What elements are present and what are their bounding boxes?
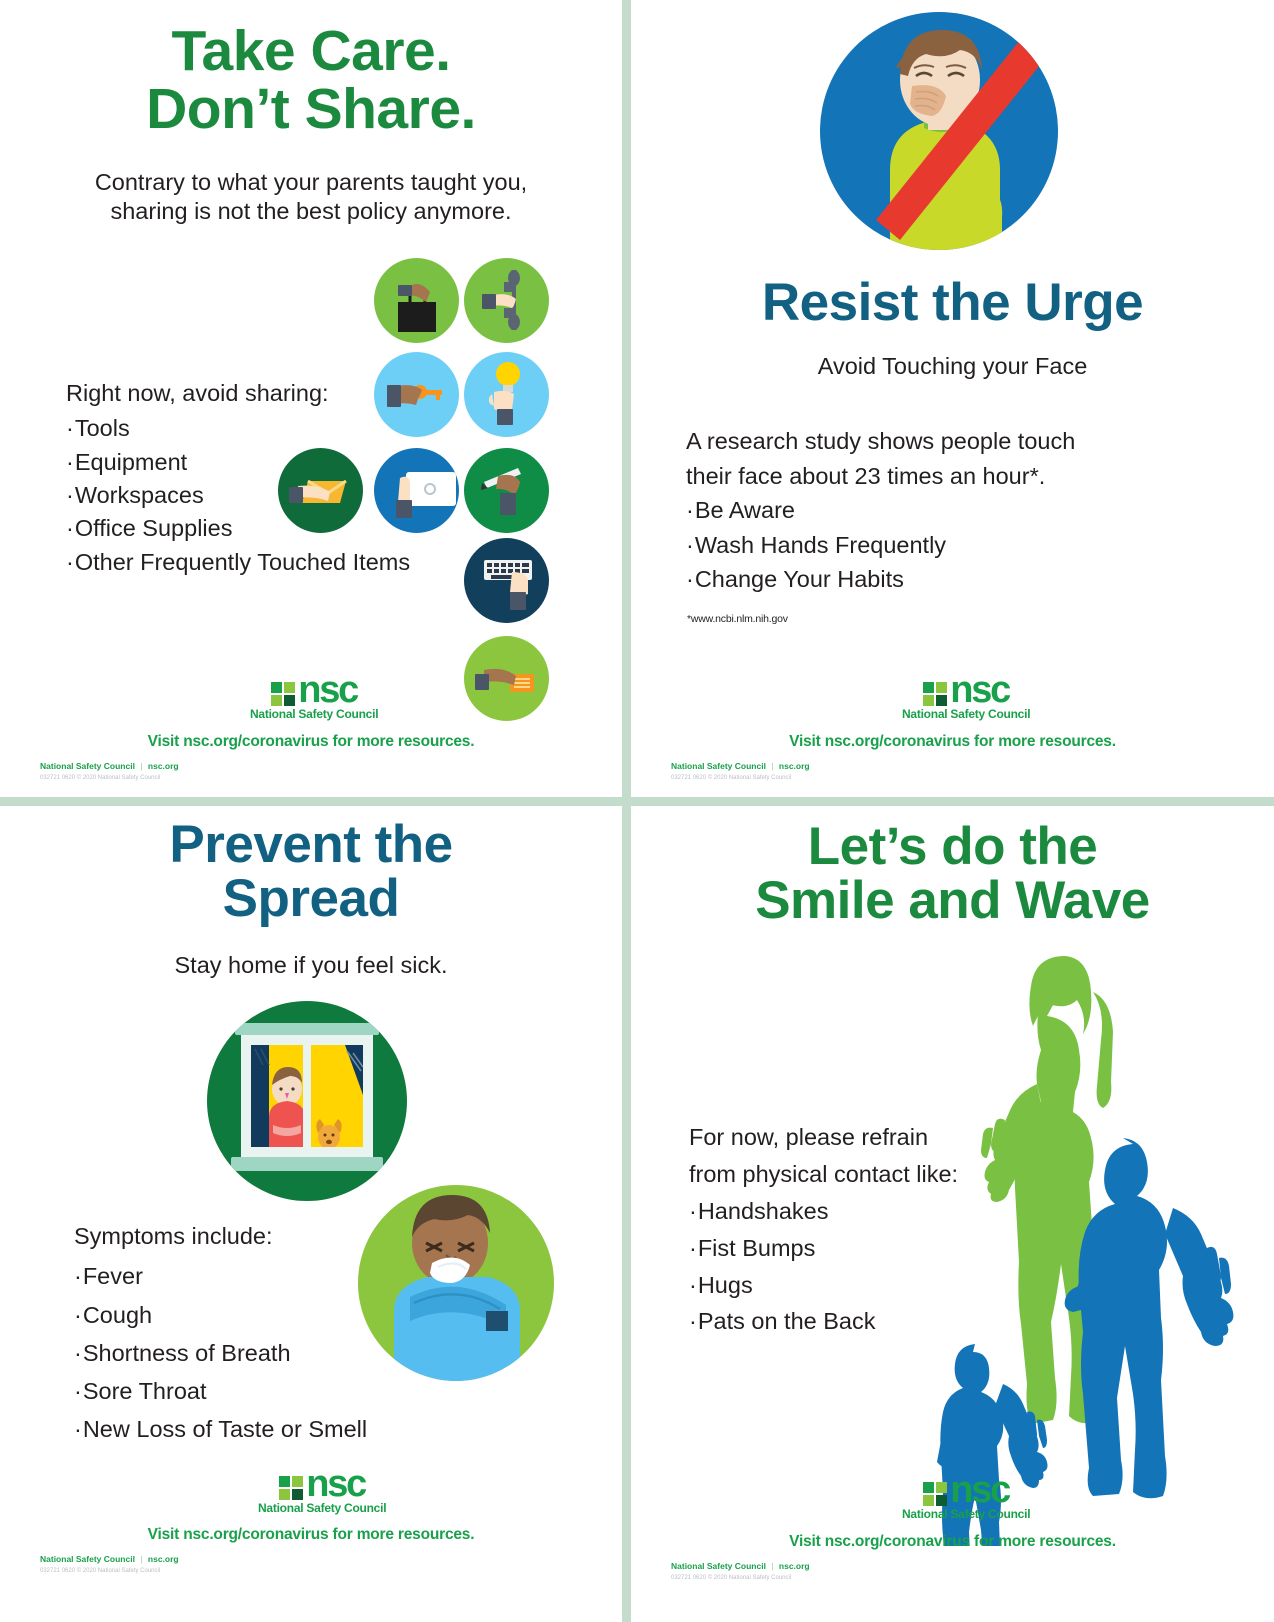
panel-subtitle: Avoid Touching your Face [631,352,1274,381]
panel-body: Right now, avoid sharing: Tools Equipmen… [66,377,410,579]
subtitle-line-1: Stay home if you feel sick. [0,951,622,980]
panel-resist-the-urge: Resist the Urge Avoid Touching your Face… [631,0,1274,797]
nsc-logo-lockup: nsc [271,676,357,706]
nsc-logo-subtitle: National Safety Council [902,1507,1030,1521]
nsc-mark-icon [279,1476,303,1500]
subtitle-line-1: Contrary to what your parents taught you… [26,168,596,197]
footer-site[interactable]: nsc.org [779,761,810,771]
panel-smile-and-wave: Let’s do the Smile and Wave [631,806,1274,1622]
stay-home-window-illustration [207,1001,407,1201]
footer-name: National Safety Council [671,1561,766,1571]
panel-subtitle: Stay home if you feel sick. [0,951,622,980]
nsc-logo: nsc National Safety Council [902,676,1030,721]
panel-body: A research study shows people touch thei… [686,424,1075,597]
bullet-list: Tools Equipment Workspaces Office Suppli… [66,412,410,579]
list-item: Hugs [689,1267,958,1304]
panel-prevent-the-spread: Prevent the Spread Stay home if you feel… [0,806,622,1622]
list-item: Fist Bumps [689,1230,958,1267]
nsc-logo: nsc National Safety Council [902,1476,1030,1521]
nsc-logo-subtitle: National Safety Council [250,707,378,721]
footer-brandbar: National Safety Council | nsc.org [40,761,179,771]
panel-title: Prevent the Spread [0,818,622,926]
list-item: Pats on the Back [689,1303,958,1340]
nsc-wordmark: nsc [950,676,1009,706]
body-lead-line-1: For now, please refrain [689,1119,958,1156]
title-line-1: Take Care. [0,22,622,80]
footer-brandbar: National Safety Council | nsc.org [671,1561,810,1571]
footer-brandbar: National Safety Council | nsc.org [671,761,810,771]
nsc-logo-subtitle: National Safety Council [258,1501,386,1515]
footer-separator: | [771,761,773,771]
body-lead-line-2: from physical contact like: [689,1156,958,1193]
panel-take-care-dont-share: Take Care. Don’t Share. Contrary to what… [0,0,622,797]
list-item: Be Aware [686,493,1075,528]
list-item: New Loss of Taste or Smell [74,1410,367,1448]
nsc-logo: nsc National Safety Council [258,1470,386,1515]
footer-brandbar: National Safety Council | nsc.org [40,1554,179,1564]
list-item: Tools [66,412,410,445]
visit-line[interactable]: Visit nsc.org/coronavirus for more resou… [0,733,622,751]
vertical-divider [622,0,631,1622]
nsc-wordmark: nsc [298,676,357,706]
symptoms-body: Symptoms include: Fever Cough Shortness … [74,1217,367,1449]
nsc-logo-subtitle: National Safety Council [902,707,1030,721]
panel-title: Let’s do the Smile and Wave [631,820,1274,928]
footer-site[interactable]: nsc.org [148,761,179,771]
title-line-2: Spread [0,872,622,926]
visit-line[interactable]: Visit nsc.org/coronavirus for more resou… [631,733,1274,751]
nsc-mark-icon [923,682,947,706]
title-line-1: Prevent the [0,818,622,872]
bullet-list: Be Aware Wash Hands Frequently Change Yo… [686,493,1075,597]
list-item: Fever [74,1257,367,1295]
list-item: Workspaces [66,479,410,512]
title-line-1: Resist the Urge [631,276,1274,330]
body-lead: Right now, avoid sharing: [66,377,410,410]
visit-line[interactable]: Visit nsc.org/coronavirus for more resou… [631,1533,1274,1551]
footer-name: National Safety Council [671,761,766,771]
nsc-logo: nsc National Safety Council [250,676,378,721]
panel-subtitle: Contrary to what your parents taught you… [26,168,596,225]
nsc-logo-lockup: nsc [923,676,1009,706]
cough-into-elbow-illustration [358,1185,554,1381]
panel-body: For now, please refrain from physical co… [689,1119,958,1340]
man-waving-silhouette [1065,1138,1234,1498]
badge-wrench-icon [464,258,549,343]
body-lead-line-2: their face about 23 times an hour*. [686,459,1075,494]
list-item: Equipment [66,446,410,479]
nsc-mark-icon [923,1482,947,1506]
list-item: Change Your Habits [686,562,1075,597]
nsc-logo-lockup: nsc [279,1470,365,1500]
badge-keyboard-icon [464,538,549,623]
badge-briefcase-icon [374,258,459,343]
waving-silhouettes-illustration [919,946,1239,1546]
list-item: Wash Hands Frequently [686,528,1075,563]
bullet-list: Fever Cough Shortness of Breath Sore Thr… [74,1257,367,1448]
nsc-mark-icon [271,682,295,706]
footer-site[interactable]: nsc.org [148,1554,179,1564]
horizontal-divider [0,797,1274,806]
badge-card-reader-icon [464,636,549,721]
badge-pen-icon [464,448,549,533]
list-item: Shortness of Breath [74,1334,367,1372]
footer-copyright: 032721 0620 © 2020 National Safety Counc… [40,775,160,781]
panel-title: Resist the Urge [631,276,1274,330]
list-item: Sore Throat [74,1372,367,1410]
footnote: *www.ncbi.nlm.nih.gov [687,613,788,625]
subtitle-line-1: Avoid Touching your Face [631,352,1274,381]
title-line-1: Let’s do the [631,820,1274,874]
bullet-list: Handshakes Fist Bumps Hugs Pats on the B… [689,1193,958,1341]
nsc-logo-lockup: nsc [923,1476,1009,1506]
list-item: Handshakes [689,1193,958,1230]
poster-set-sheet: Take Care. Don’t Share. Contrary to what… [0,0,1274,1622]
subtitle-line-2: sharing is not the best policy anymore. [26,197,596,226]
footer-name: National Safety Council [40,1554,135,1564]
footer-copyright: 032721 0620 © 2020 National Safety Counc… [40,1568,160,1574]
list-item: Other Frequently Touched Items [66,546,410,579]
badge-lightbulb-icon [464,352,549,437]
visit-line[interactable]: Visit nsc.org/coronavirus for more resou… [0,1526,622,1544]
body-lead-line-1: A research study shows people touch [686,424,1075,459]
panel-title: Take Care. Don’t Share. [0,22,622,138]
no-face-touching-illustration [820,12,1058,250]
footer-separator: | [771,1561,773,1571]
list-item: Office Supplies [66,512,410,545]
footer-separator: | [140,761,142,771]
nsc-wordmark: nsc [950,1476,1009,1506]
list-item: Cough [74,1296,367,1334]
footer-name: National Safety Council [40,761,135,771]
title-line-2: Don’t Share. [0,80,622,138]
title-line-2: Smile and Wave [631,874,1274,928]
footer-site[interactable]: nsc.org [779,1561,810,1571]
nsc-wordmark: nsc [306,1470,365,1500]
footer-separator: | [140,1554,142,1564]
footer-copyright: 032721 0620 © 2020 National Safety Counc… [671,1575,791,1581]
footer-copyright: 032721 0620 © 2020 National Safety Counc… [671,775,791,781]
body-lead: Symptoms include: [74,1217,367,1255]
